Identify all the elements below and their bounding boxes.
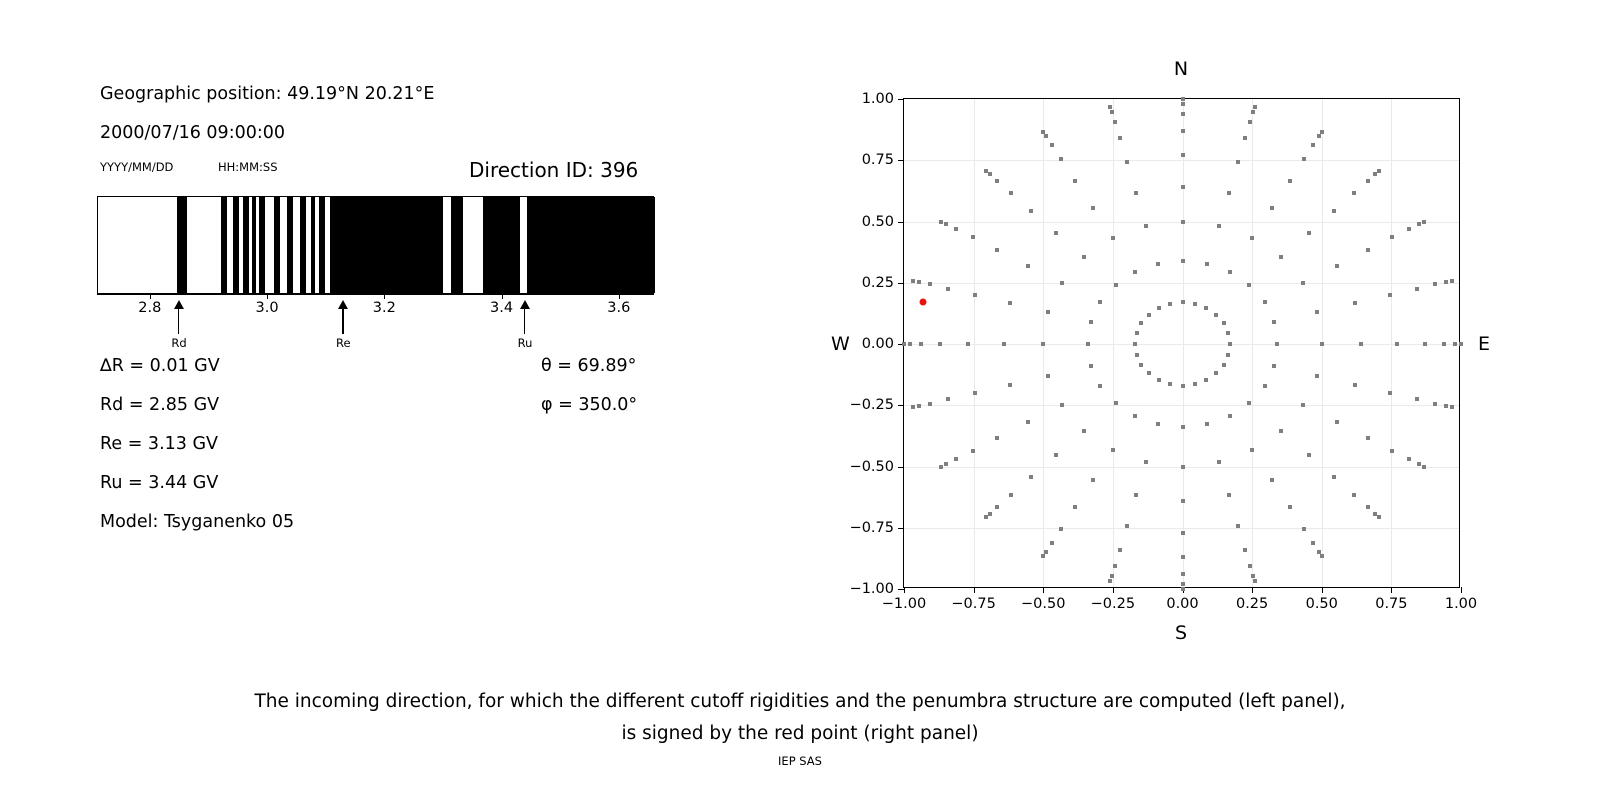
direction-point	[1353, 301, 1357, 305]
direction-point	[1181, 112, 1185, 116]
direction-point	[1054, 231, 1058, 235]
direction-point	[1133, 270, 1137, 274]
y-axis-tick-label: 0.25	[862, 275, 894, 291]
direction-point	[1029, 475, 1033, 479]
penumbra-bar-chart	[97, 196, 654, 294]
direction-point	[1307, 453, 1311, 457]
figure-root: Geographic position: 49.19°N 20.21°E 200…	[0, 0, 1600, 800]
direction-point	[1433, 282, 1437, 286]
direction-point	[1133, 342, 1137, 346]
direction-point	[1251, 110, 1255, 114]
direction-point	[1417, 222, 1421, 226]
direction-point	[1113, 120, 1117, 124]
direction-point	[1135, 331, 1139, 335]
x-axis-tick	[1113, 587, 1114, 593]
x-axis-tick	[904, 587, 905, 593]
direction-point	[1008, 301, 1012, 305]
direction-point	[917, 280, 921, 284]
direction-point	[1320, 130, 1324, 134]
direction-point	[1217, 224, 1221, 228]
direction-point	[1250, 236, 1254, 240]
direction-point	[1111, 448, 1115, 452]
direction-point	[954, 457, 958, 461]
x-axis-tick-label: 0.50	[1306, 596, 1338, 612]
y-axis-tick-label: −1.00	[850, 581, 894, 597]
direction-point	[1041, 130, 1045, 134]
y-axis-tick-label: 0.50	[862, 214, 894, 230]
date-format-hint: YYYY/MM/DD	[100, 160, 173, 174]
x-axis-tick-label: −1.00	[882, 596, 926, 612]
y-axis-tick	[898, 99, 904, 100]
direction-point	[1125, 524, 1129, 528]
direction-point	[1108, 579, 1112, 583]
direction-point	[1193, 382, 1197, 386]
direction-point	[1114, 401, 1118, 405]
direction-point	[1302, 527, 1306, 531]
penumbra-band	[319, 197, 325, 293]
direction-point	[1193, 302, 1197, 306]
direction-point	[1315, 374, 1319, 378]
direction-point	[1359, 342, 1363, 346]
x-axis-tick-label: 0.75	[1375, 596, 1407, 612]
direction-point	[1009, 191, 1013, 195]
penumbra-band	[330, 197, 443, 293]
gridline-vertical	[974, 99, 975, 587]
y-axis-tick-label: −0.50	[850, 459, 894, 475]
direction-point	[1366, 436, 1370, 440]
direction-point	[1459, 342, 1463, 346]
direction-point	[1181, 587, 1185, 591]
direction-point	[1181, 153, 1185, 157]
direction-point	[984, 169, 988, 173]
direction-point	[995, 436, 999, 440]
direction-point	[1157, 378, 1161, 382]
param-delta-r: ∆R = 0.01 GV	[100, 356, 220, 376]
param-re: Re = 3.13 GV	[100, 434, 218, 454]
direction-point	[1041, 342, 1045, 346]
direction-point	[1317, 134, 1321, 138]
rigidity-tick	[619, 294, 620, 299]
direction-point	[1377, 515, 1381, 519]
y-axis-tick-label: 1.00	[862, 91, 894, 107]
direction-point	[1352, 191, 1356, 195]
direction-point	[1204, 378, 1208, 382]
direction-point	[988, 512, 992, 516]
cutoff-arrow-label: Ru	[518, 336, 533, 350]
rigidity-tick-label: 3.4	[490, 300, 513, 316]
gridline-vertical	[1183, 99, 1184, 587]
direction-point	[1181, 572, 1185, 576]
param-rd: Rd = 2.85 GV	[100, 395, 219, 415]
direction-point	[1026, 420, 1030, 424]
direction-point	[1114, 283, 1118, 287]
direction-point	[1243, 548, 1247, 552]
gridline-horizontal	[904, 283, 1459, 284]
direction-point	[1181, 555, 1185, 559]
direction-point	[1214, 371, 1218, 375]
direction-point	[1352, 493, 1356, 497]
direction-point	[1111, 236, 1115, 240]
direction-point	[973, 293, 977, 297]
cutoff-arrow-label: Re	[336, 336, 351, 350]
direction-point	[1046, 374, 1050, 378]
direction-point	[928, 402, 932, 406]
direction-point	[1248, 564, 1252, 568]
direction-point	[1125, 160, 1129, 164]
direction-point	[1444, 404, 1448, 408]
direction-point	[1181, 220, 1185, 224]
footer-credit: IEP SAS	[0, 754, 1600, 768]
direction-point	[1091, 206, 1095, 210]
direction-point	[1050, 541, 1054, 545]
direction-point	[1147, 371, 1151, 375]
direction-point	[1243, 136, 1247, 140]
compass-label-west: W	[831, 333, 850, 355]
rigidity-tick-label: 3.0	[256, 300, 279, 316]
direction-point	[1236, 160, 1240, 164]
selected-direction-point[interactable]	[920, 299, 927, 306]
direction-point	[1248, 120, 1252, 124]
direction-point	[1181, 582, 1185, 586]
direction-point	[971, 449, 975, 453]
direction-point	[1060, 403, 1064, 407]
gridline-horizontal	[904, 160, 1459, 161]
direction-point	[1320, 342, 1324, 346]
direction-point	[1008, 383, 1012, 387]
y-axis-tick-label: 0.00	[862, 336, 894, 352]
direction-point	[1050, 143, 1054, 147]
direction-point	[1060, 281, 1064, 285]
direction-point	[1135, 353, 1139, 357]
direction-point	[1335, 420, 1339, 424]
direction-point	[1390, 449, 1394, 453]
y-axis-tick	[898, 467, 904, 468]
direction-point	[1332, 475, 1336, 479]
compass-label-south: S	[1175, 622, 1187, 644]
y-axis-tick-label: −0.25	[850, 397, 894, 413]
direction-point	[1301, 281, 1305, 285]
rigidity-tick	[267, 294, 268, 299]
direction-point	[1144, 460, 1148, 464]
direction-point	[1041, 554, 1045, 558]
direction-point	[1089, 364, 1093, 368]
right-panel: N S W E −1.00−0.75−0.50−0.250.000.250.50…	[800, 0, 1600, 800]
direction-point	[1156, 422, 1160, 426]
y-axis-tick	[898, 160, 904, 161]
direction-point	[1422, 220, 1426, 224]
direction-point	[1168, 382, 1172, 386]
direction-point	[1390, 235, 1394, 239]
direction-point	[1227, 493, 1231, 497]
direction-point	[1228, 270, 1232, 274]
direction-point	[1157, 306, 1161, 310]
direction-point	[1044, 134, 1048, 138]
direction-point	[1442, 342, 1446, 346]
direction-point	[1366, 179, 1370, 183]
direction-point	[1366, 248, 1370, 252]
penumbra-band	[221, 197, 227, 293]
compass-label-east: E	[1478, 333, 1490, 355]
direction-point	[902, 342, 906, 346]
direction-id-label: Direction ID: 396	[469, 158, 638, 182]
direction-point	[1373, 172, 1377, 176]
direction-point	[1073, 179, 1077, 183]
direction-point	[1086, 342, 1090, 346]
direction-point	[1181, 425, 1185, 429]
penumbra-band	[233, 197, 239, 293]
direction-point	[1059, 527, 1063, 531]
direction-point	[1181, 384, 1185, 388]
direction-point	[1433, 402, 1437, 406]
direction-point	[1144, 224, 1148, 228]
direction-point	[1302, 157, 1306, 161]
y-axis-tick	[898, 528, 904, 529]
direction-point	[1263, 300, 1267, 304]
direction-point	[1227, 191, 1231, 195]
direction-point	[1204, 306, 1208, 310]
direction-point	[908, 342, 912, 346]
direction-point	[1181, 102, 1185, 106]
direction-point	[1415, 287, 1419, 291]
direction-point	[946, 397, 950, 401]
direction-point	[1407, 227, 1411, 231]
direction-point	[1279, 255, 1283, 259]
direction-point	[1082, 429, 1086, 433]
sky-map-plot: −1.00−0.75−0.50−0.250.000.250.500.751.00…	[903, 98, 1460, 588]
direction-point	[1134, 493, 1138, 497]
cutoff-arrow-label: Rd	[171, 336, 186, 350]
direction-point	[1311, 541, 1315, 545]
x-axis-tick-label: −0.50	[1021, 596, 1065, 612]
penumbra-band	[274, 197, 280, 293]
direction-point	[1236, 524, 1240, 528]
x-axis-tick	[1322, 587, 1323, 593]
y-axis-tick	[898, 405, 904, 406]
direction-point	[946, 287, 950, 291]
direction-point	[1181, 499, 1185, 503]
direction-point	[1250, 448, 1254, 452]
direction-point	[1251, 574, 1255, 578]
direction-point	[1026, 264, 1030, 268]
x-axis-tick	[1252, 587, 1253, 593]
direction-point	[1320, 554, 1324, 558]
direction-point	[1181, 531, 1185, 535]
direction-point	[1311, 143, 1315, 147]
direction-point	[1113, 564, 1117, 568]
gridline-horizontal	[904, 405, 1459, 406]
direction-point	[1307, 231, 1311, 235]
direction-point	[928, 282, 932, 286]
penumbra-band	[287, 197, 293, 293]
direction-point	[1002, 342, 1006, 346]
time-format-hint: HH:MM:SS	[218, 160, 278, 174]
direction-point	[1181, 465, 1185, 469]
direction-point	[1228, 414, 1232, 418]
penumbra-band	[311, 197, 315, 293]
gridline-vertical	[1252, 99, 1253, 587]
gridline-vertical	[1113, 99, 1114, 587]
direction-point	[1205, 262, 1209, 266]
rigidity-tick-label: 3.6	[607, 300, 630, 316]
direction-point	[1168, 302, 1172, 306]
y-axis-tick-label: −0.75	[850, 520, 894, 536]
compass-label-north: N	[1174, 58, 1188, 80]
direction-point	[1009, 493, 1013, 497]
direction-point	[944, 462, 948, 466]
direction-point	[1263, 384, 1267, 388]
direction-point	[939, 220, 943, 224]
direction-point	[1366, 505, 1370, 509]
direction-point	[988, 172, 992, 176]
direction-point	[1118, 136, 1122, 140]
datetime-value: 2000/07/16 09:00:00	[100, 123, 285, 143]
direction-point	[1228, 342, 1232, 346]
direction-point	[1139, 363, 1143, 367]
penumbra-band	[300, 197, 306, 293]
gridline-horizontal	[904, 344, 1459, 345]
direction-point	[1279, 429, 1283, 433]
direction-point	[1315, 310, 1319, 314]
x-axis-tick	[1461, 587, 1462, 593]
direction-point	[1388, 391, 1392, 395]
penumbra-band	[483, 197, 520, 293]
direction-point	[939, 465, 943, 469]
direction-point	[1134, 191, 1138, 195]
direction-point	[1253, 579, 1257, 583]
direction-point	[1450, 279, 1454, 283]
direction-point	[1222, 363, 1226, 367]
direction-point	[1332, 209, 1336, 213]
direction-point	[1288, 505, 1292, 509]
direction-point	[1450, 405, 1454, 409]
direction-point	[1335, 264, 1339, 268]
y-axis-tick-label: 0.75	[862, 152, 894, 168]
gridline-horizontal	[904, 528, 1459, 529]
x-axis-tick	[1043, 587, 1044, 593]
direction-point	[917, 404, 921, 408]
direction-point	[1205, 422, 1209, 426]
direction-point	[919, 342, 923, 346]
direction-point	[1226, 331, 1230, 335]
direction-point	[1272, 364, 1276, 368]
direction-point	[1247, 401, 1251, 405]
direction-point	[984, 515, 988, 519]
direction-point	[1272, 320, 1276, 324]
direction-point	[1082, 255, 1086, 259]
direction-point	[1156, 262, 1160, 266]
param-theta: θ = 69.89°	[541, 356, 636, 376]
penumbra-band	[177, 197, 187, 293]
caption-line-2: is signed by the red point (right panel)	[0, 718, 1600, 750]
rigidity-tick-label: 3.2	[373, 300, 396, 316]
direction-point	[1444, 280, 1448, 284]
rigidity-tick	[502, 294, 503, 299]
direction-point	[1147, 313, 1151, 317]
caption-line-1: The incoming direction, for which the di…	[0, 686, 1600, 718]
direction-point	[1110, 110, 1114, 114]
direction-point	[1089, 320, 1093, 324]
direction-point	[1417, 462, 1421, 466]
cutoff-arrow-rd	[174, 300, 184, 334]
x-axis-tick-label: −0.25	[1091, 596, 1135, 612]
param-ru: Ru = 3.44 GV	[100, 473, 218, 493]
direction-point	[1054, 453, 1058, 457]
direction-point	[1388, 293, 1392, 297]
x-axis-tick-label: −0.75	[951, 596, 995, 612]
param-phi: φ = 350.0°	[541, 395, 637, 415]
direction-point	[1214, 313, 1218, 317]
penumbra-band	[259, 197, 265, 293]
direction-point	[1098, 300, 1102, 304]
direction-point	[954, 227, 958, 231]
direction-point	[973, 391, 977, 395]
direction-point	[938, 342, 942, 346]
direction-point	[1270, 206, 1274, 210]
direction-point	[995, 179, 999, 183]
direction-point	[1118, 548, 1122, 552]
direction-point	[1133, 414, 1137, 418]
direction-point	[1226, 353, 1230, 357]
penumbra-axis-line	[97, 294, 654, 295]
direction-point	[1395, 342, 1399, 346]
direction-point	[1181, 259, 1185, 263]
direction-point	[995, 505, 999, 509]
direction-point	[1247, 283, 1251, 287]
direction-point	[1073, 505, 1077, 509]
x-axis-tick-label: 0.00	[1166, 596, 1198, 612]
direction-point	[1407, 457, 1411, 461]
direction-point	[911, 279, 915, 283]
geographic-position: Geographic position: 49.19°N 20.21°E	[100, 84, 435, 104]
direction-point	[1181, 129, 1185, 133]
gridline-vertical	[1391, 99, 1392, 587]
cutoff-arrow-ru	[520, 300, 530, 334]
x-axis-tick-label: 0.25	[1236, 596, 1268, 612]
direction-point	[1270, 478, 1274, 482]
direction-point	[1217, 460, 1221, 464]
direction-point	[1108, 105, 1112, 109]
direction-point	[1181, 185, 1185, 189]
direction-point	[1098, 384, 1102, 388]
rigidity-tick	[150, 294, 151, 299]
cutoff-arrow-re	[338, 300, 348, 334]
direction-point	[971, 235, 975, 239]
y-axis-tick	[898, 283, 904, 284]
direction-point	[1423, 342, 1427, 346]
direction-point	[1059, 157, 1063, 161]
direction-point	[966, 342, 970, 346]
rigidity-tick	[384, 294, 385, 299]
y-axis-tick	[898, 222, 904, 223]
penumbra-band	[527, 197, 655, 293]
param-model: Model: Tsyganenko 05	[100, 512, 294, 532]
direction-point	[1181, 300, 1185, 304]
direction-point	[1453, 342, 1457, 346]
direction-point	[1288, 179, 1292, 183]
direction-point	[1275, 342, 1279, 346]
direction-point	[1110, 574, 1114, 578]
figure-caption: The incoming direction, for which the di…	[0, 686, 1600, 750]
left-panel: Geographic position: 49.19°N 20.21°E 200…	[0, 0, 800, 800]
direction-point	[1253, 105, 1257, 109]
direction-point	[1046, 310, 1050, 314]
direction-point	[944, 222, 948, 226]
direction-point	[1181, 97, 1185, 101]
x-axis-tick-label: 1.00	[1445, 596, 1477, 612]
direction-point	[1353, 383, 1357, 387]
direction-point	[911, 405, 915, 409]
x-axis-tick	[1391, 587, 1392, 593]
